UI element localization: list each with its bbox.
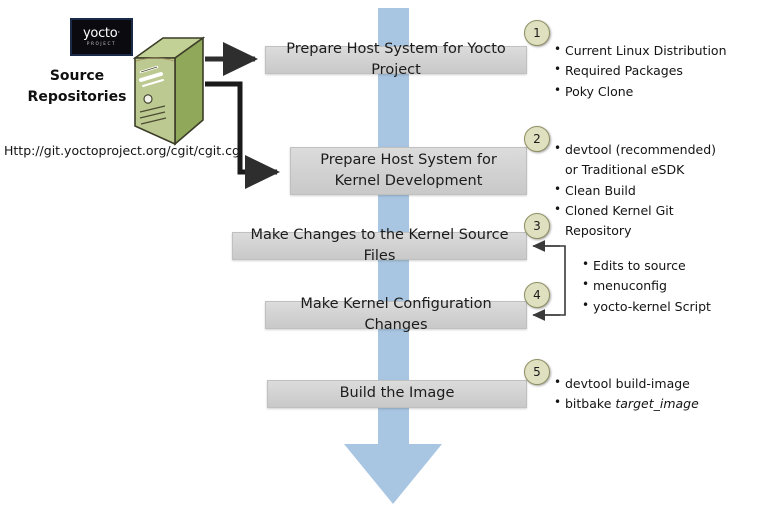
list-item: Edits to source xyxy=(593,256,760,276)
process-box-step-2-label: Prepare Host System for Kernel Developme… xyxy=(299,150,518,192)
list-item: yocto-kernel Script xyxy=(593,297,760,317)
list-item: menuconfig xyxy=(593,276,760,296)
process-box-step-1[interactable]: Prepare Host System for Yocto Project xyxy=(265,46,527,74)
process-box-step-4-label: Make Kernel Configuration Changes xyxy=(274,294,518,336)
diagram-canvas: yocto· PROJECT Source Repositories Http:… xyxy=(0,0,769,517)
list-item: devtool build-image xyxy=(565,374,742,394)
bullet-list-step-1: Current Linux Distribution Required Pack… xyxy=(552,41,752,102)
process-box-step-2[interactable]: Prepare Host System for Kernel Developme… xyxy=(290,147,527,195)
step-badge-5-number: 5 xyxy=(533,365,541,379)
process-box-step-3[interactable]: Make Changes to the Kernel Source Files xyxy=(232,232,527,260)
source-repositories-label: Source Repositories xyxy=(12,66,142,108)
connector-server-to-step2 xyxy=(205,84,277,172)
step-badge-3: 3 xyxy=(524,213,550,239)
process-box-step-3-label: Make Changes to the Kernel Source Files xyxy=(241,225,518,267)
list-item: Poky Clone xyxy=(565,82,752,102)
bullet-list-step-5: devtool build-image bitbake target_image xyxy=(552,374,742,415)
yocto-logo-dot: · xyxy=(117,28,120,38)
list-item: devtool (recommended) or Traditional eSD… xyxy=(565,140,727,181)
step-badge-4: 4 xyxy=(524,282,550,308)
bitbake-command-plain: bitbake xyxy=(565,396,615,411)
source-repositories-line2: Repositories xyxy=(12,87,142,108)
yocto-logo-wordmark: yocto· xyxy=(83,27,120,40)
flow-arrow-head xyxy=(344,444,442,504)
source-repositories-line1: Source xyxy=(12,66,142,87)
yocto-project-logo: yocto· PROJECT xyxy=(70,18,133,56)
list-item-bitbake: bitbake target_image xyxy=(565,394,742,414)
list-item: Required Packages xyxy=(565,61,752,81)
step-badge-2: 2 xyxy=(524,126,550,152)
step-badge-1: 1 xyxy=(524,20,550,46)
process-box-step-5[interactable]: Build the Image xyxy=(267,380,527,408)
list-item: Current Linux Distribution xyxy=(565,41,752,61)
process-box-step-5-label: Build the Image xyxy=(340,383,455,404)
yocto-logo-subtext: PROJECT xyxy=(87,42,116,46)
bitbake-target-image-italic: target_image xyxy=(615,396,698,411)
bullet-list-step-2: devtool (recommended) or Traditional eSD… xyxy=(552,140,727,241)
source-repository-url: Http://git.yoctoproject.org/cgit/cgit.cg… xyxy=(4,143,243,158)
list-item: Clean Build xyxy=(565,181,727,201)
step-badge-1-number: 1 xyxy=(533,26,541,40)
step-badge-4-number: 4 xyxy=(533,288,541,302)
step-badge-3-number: 3 xyxy=(533,219,541,233)
list-item: Cloned Kernel Git Repository xyxy=(565,201,727,242)
step-badge-2-number: 2 xyxy=(533,132,541,146)
step-badge-5: 5 xyxy=(524,359,550,385)
process-box-step-4[interactable]: Make Kernel Configuration Changes xyxy=(265,301,527,329)
server-tower-icon xyxy=(133,36,205,146)
process-box-step-1-label: Prepare Host System for Yocto Project xyxy=(274,39,518,81)
bullet-list-steps-3-4: Edits to source menuconfig yocto-kernel … xyxy=(580,256,760,317)
yocto-logo-text: yocto xyxy=(83,26,117,41)
